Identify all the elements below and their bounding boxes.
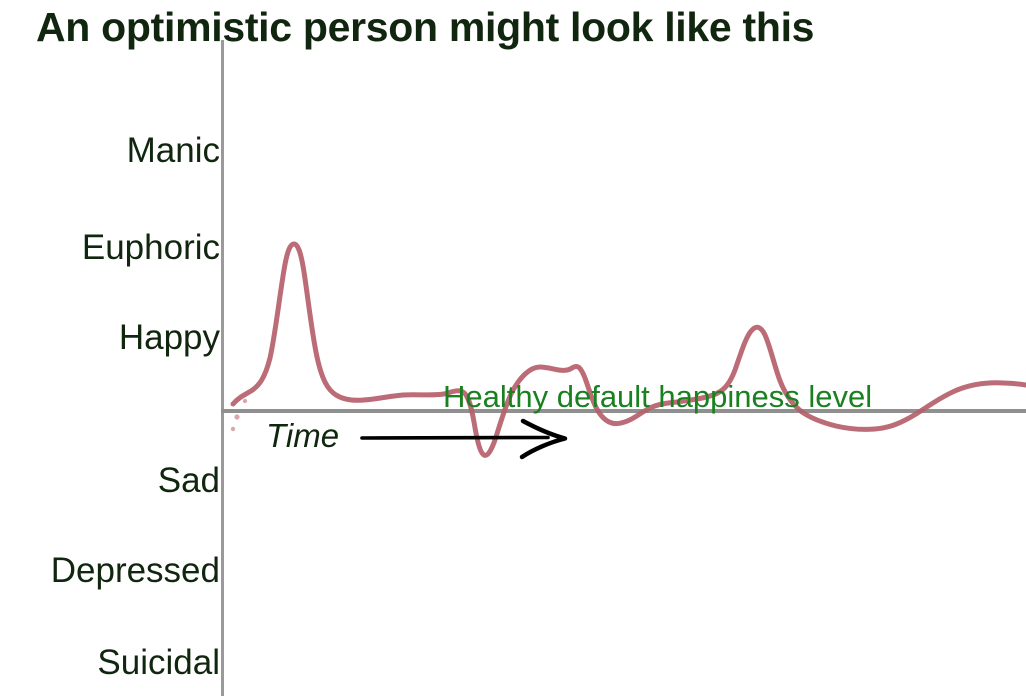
mood-y-axis <box>221 40 224 696</box>
y-label-suicidal: Suicidal <box>97 644 220 682</box>
y-label-euphoric: Euphoric <box>82 229 220 267</box>
y-label-happy: Happy <box>119 319 220 357</box>
y-label-depressed: Depressed <box>51 552 220 590</box>
mood-curve-path <box>233 244 1026 455</box>
slide-canvas: An optimistic person might look like thi… <box>0 0 1026 696</box>
page-title: An optimistic person might look like thi… <box>36 2 996 52</box>
curve-speck <box>243 399 247 403</box>
x-axis-label-time: Time <box>266 416 339 456</box>
curve-speck <box>234 414 239 419</box>
curve-speck <box>231 427 235 431</box>
healthy-baseline-label: Healthy default happiness level <box>443 380 872 414</box>
y-label-sad: Sad <box>158 462 220 500</box>
y-label-manic: Manic <box>127 132 220 170</box>
time-direction-arrow-icon <box>360 412 575 464</box>
